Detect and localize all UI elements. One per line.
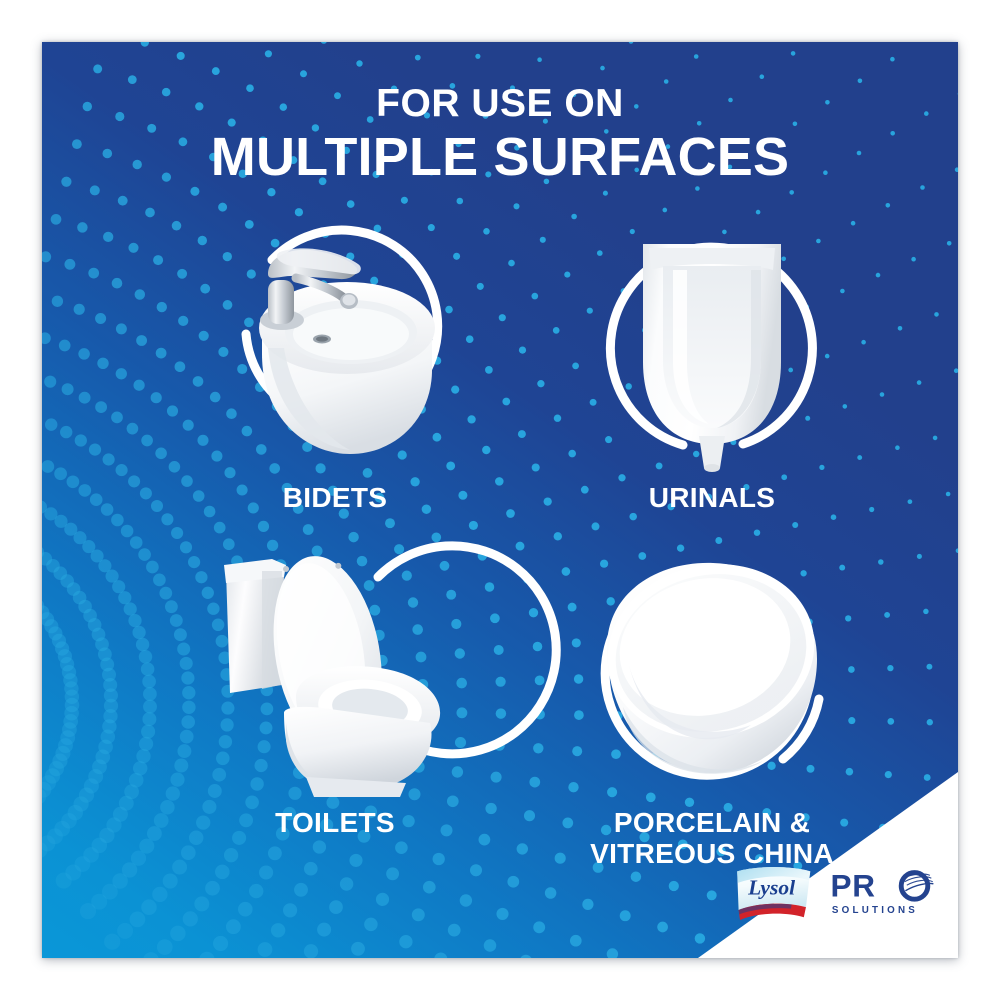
pro-wordmark: PR — [831, 867, 876, 903]
surface-card-bidets: BIDETS — [170, 222, 500, 513]
porcelain-bowl-photo — [587, 547, 837, 797]
pro-solutions-logo: PR SOLUTIONS — [830, 867, 936, 923]
brand-lockup: Lysol PR SOLUTIONS — [730, 864, 936, 926]
porcelain-artwork — [587, 547, 837, 797]
surface-label-toilets: TOILETS — [170, 807, 500, 838]
surfaces-grid: BIDETS — [42, 192, 958, 892]
lysol-logo: Lysol — [730, 864, 816, 926]
bidet-photo — [210, 222, 460, 472]
headline-line-2: MULTIPLE SURFACES — [42, 130, 958, 184]
surface-card-toilets: TOILETS — [170, 547, 500, 838]
lysol-wordmark: Lysol — [747, 875, 795, 899]
surface-label-bidets: BIDETS — [170, 482, 500, 513]
surface-label-urinals: URINALS — [547, 482, 877, 513]
poster: FOR USE ON MULTIPLE SURFACES — [42, 42, 958, 958]
urinal-artwork — [587, 222, 837, 472]
surface-card-porcelain: PORCELAIN & VITREOUS CHINA — [547, 547, 877, 870]
toilet-artwork — [210, 547, 460, 797]
surface-label-porcelain: PORCELAIN & VITREOUS CHINA — [547, 807, 877, 870]
surface-card-urinals: URINALS — [547, 222, 877, 513]
page-title: FOR USE ON MULTIPLE SURFACES — [42, 84, 958, 184]
bidet-artwork — [210, 222, 460, 472]
toilet-photo — [210, 547, 460, 797]
surface-label-porcelain-line1: PORCELAIN & — [614, 807, 810, 838]
poster-canvas: FOR USE ON MULTIPLE SURFACES — [0, 0, 1000, 1000]
solutions-wordmark: SOLUTIONS — [832, 905, 918, 916]
headline-line-1: FOR USE ON — [42, 84, 958, 123]
urinal-photo — [587, 222, 837, 472]
